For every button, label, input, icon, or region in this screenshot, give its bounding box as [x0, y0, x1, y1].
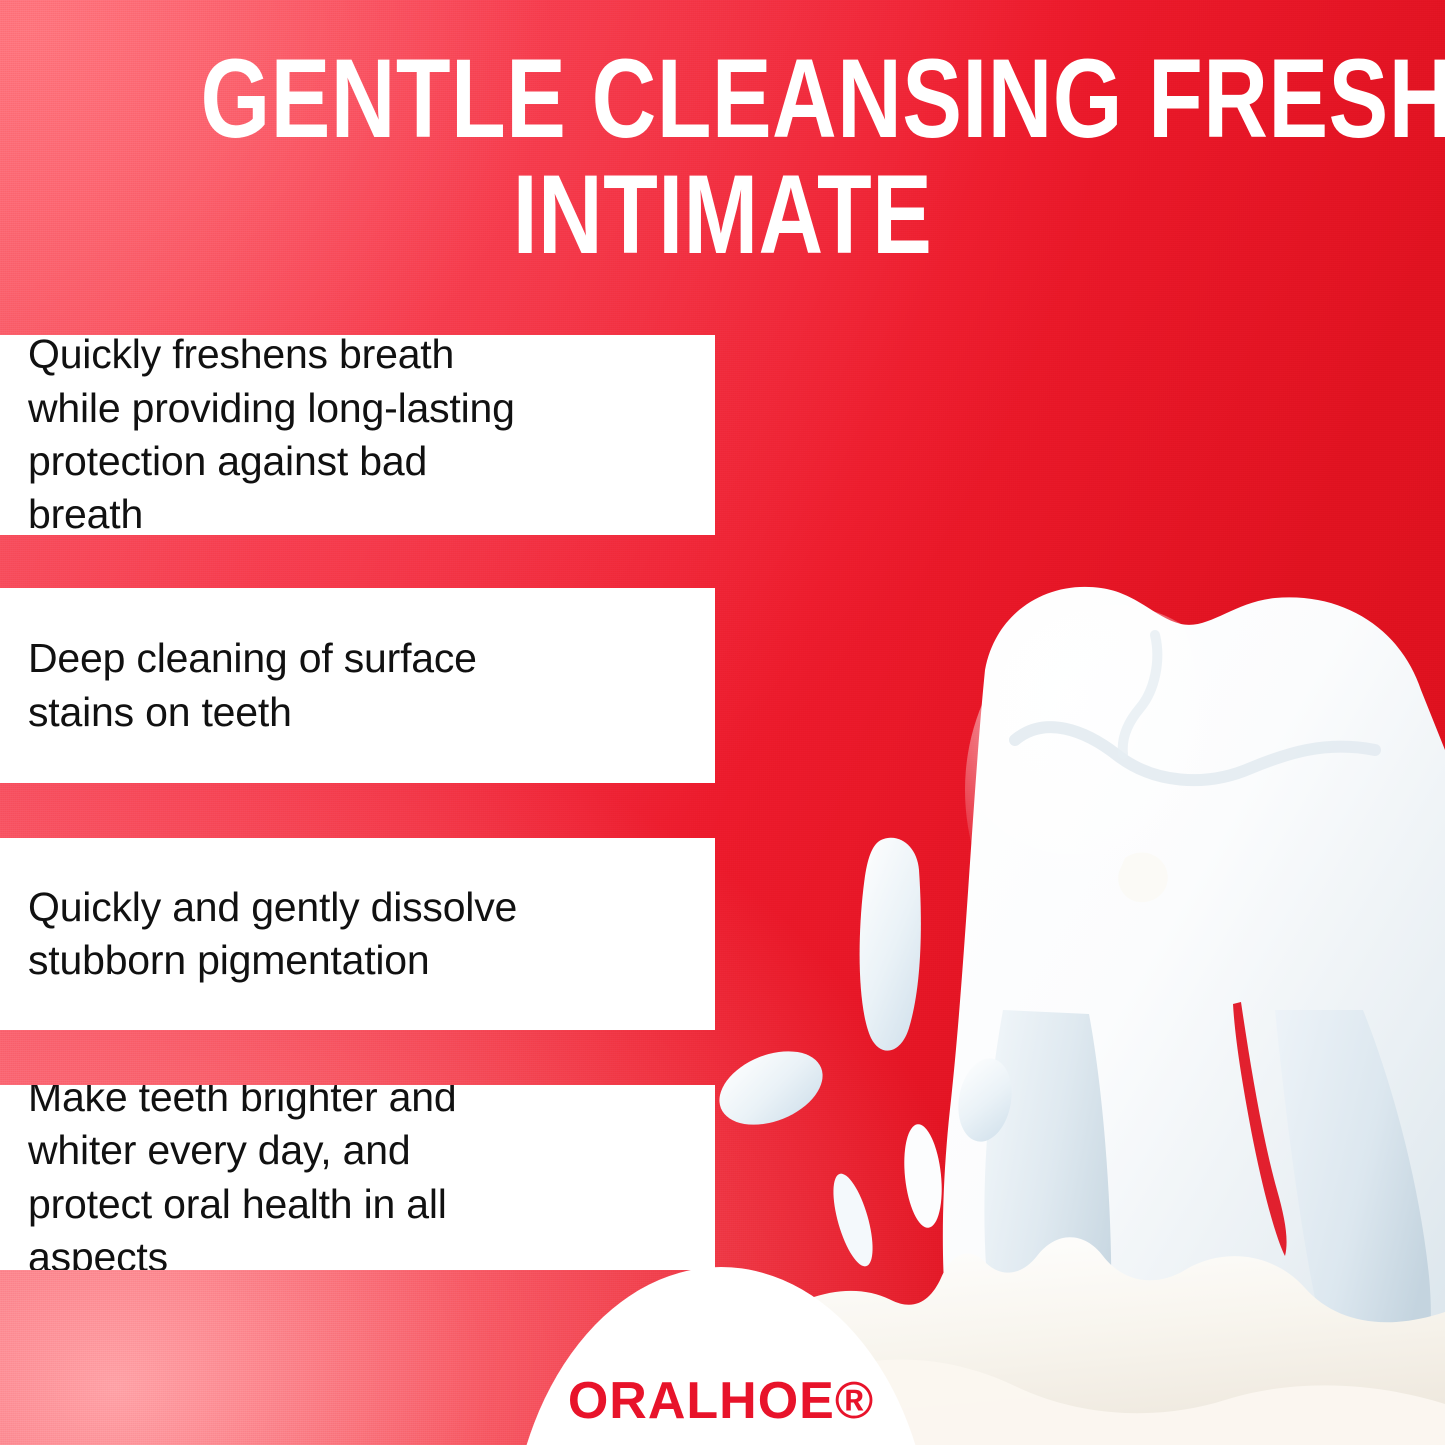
benefit-ribbon-2: Deep cleaning of surface stains on teeth	[0, 588, 715, 783]
benefit-text-2: Deep cleaning of surface stains on teeth	[28, 632, 545, 739]
benefit-ribbon-list: Quickly freshens breath while providing …	[0, 0, 760, 1445]
product-feature-poster: GENTLE CLEANSING FRESH AND INTIMATE Quic…	[0, 0, 1445, 1445]
benefit-text-1: Quickly freshens breath while providing …	[28, 328, 545, 541]
benefit-text-4: Make teeth brighter and whiter every day…	[28, 1071, 545, 1284]
brand-name: ORALHOE®	[568, 1371, 874, 1445]
benefit-ribbon-4: Make teeth brighter and whiter every day…	[0, 1085, 715, 1270]
benefit-ribbon-3: Quickly and gently dissolve stubborn pig…	[0, 838, 715, 1030]
benefit-ribbon-1: Quickly freshens breath while providing …	[0, 335, 715, 535]
benefit-text-3: Quickly and gently dissolve stubborn pig…	[28, 881, 545, 988]
